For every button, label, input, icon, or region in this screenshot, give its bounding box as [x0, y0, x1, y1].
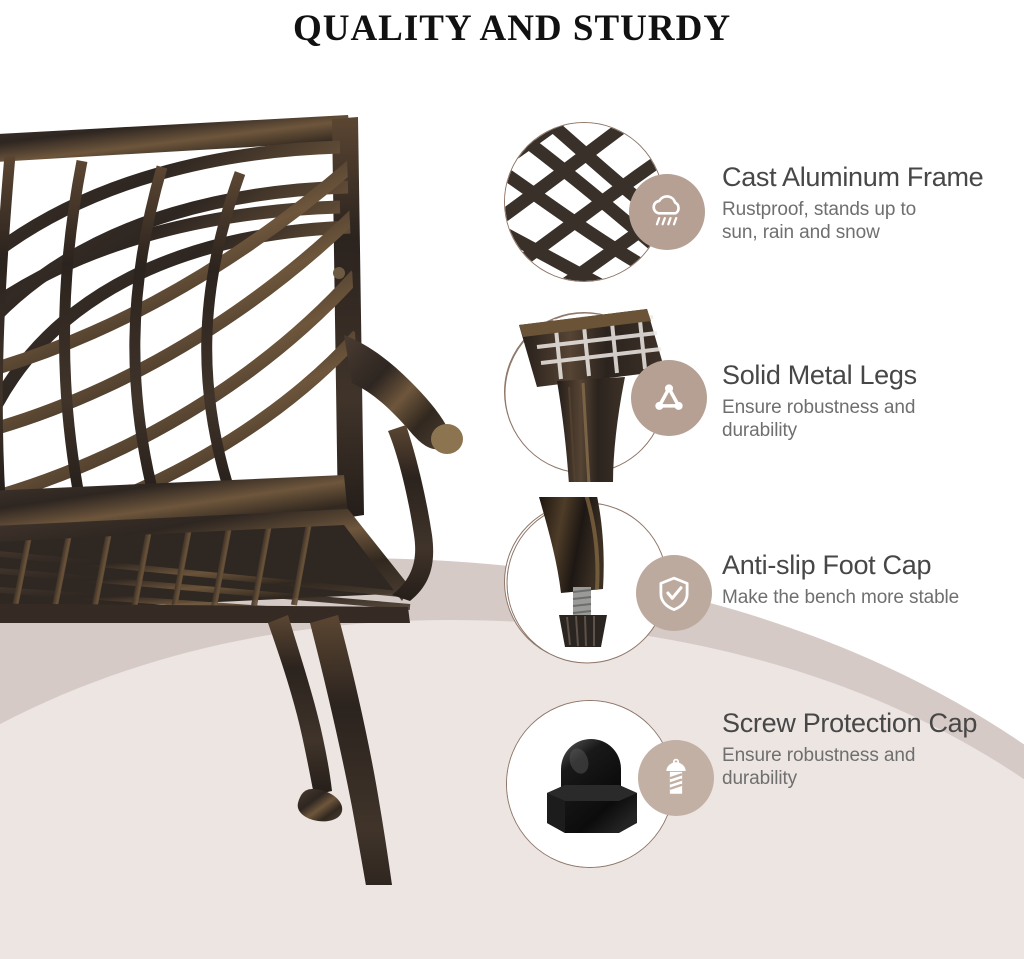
- feature-title: Cast Aluminum Frame: [722, 162, 1024, 192]
- screw-icon: [655, 757, 697, 799]
- feature-text: Cast Aluminum Frame Rustproof, stands up…: [722, 162, 1024, 244]
- feature-badge: [631, 360, 707, 436]
- feature-badge: [629, 174, 705, 250]
- feature-text: Solid Metal Legs Ensure robustness and d…: [722, 360, 1024, 442]
- feature-subtitle: Rustproof, stands up to sun, rain and sn…: [722, 198, 1024, 244]
- bench-backrest: [0, 115, 364, 555]
- feature-badge: [638, 740, 714, 816]
- feature-text: Anti-slip Foot Cap Make the bench more s…: [722, 550, 1024, 609]
- shield-check-icon: [653, 572, 695, 614]
- product-photo-bench: [0, 95, 500, 885]
- feature-row: Solid Metal Legs Ensure robustness and d…: [498, 308, 1024, 498]
- feature-row: Cast Aluminum Frame Rustproof, stands up…: [498, 118, 1024, 308]
- feature-title: Anti-slip Foot Cap: [722, 550, 1024, 580]
- feature-subtitle: Make the bench more stable: [722, 586, 1024, 609]
- bench-front-leg: [310, 615, 413, 885]
- rain-cloud-icon: [646, 191, 688, 233]
- title-bar: QUALITY AND STURDY: [0, 0, 1024, 56]
- feature-title: Screw Protection Cap: [722, 708, 1024, 738]
- feature-text: Screw Protection Cap Ensure robustness a…: [722, 708, 1024, 790]
- page-title: QUALITY AND STURDY: [293, 7, 731, 50]
- triangle-nodes-icon: [648, 377, 690, 419]
- feature-title: Solid Metal Legs: [722, 360, 1024, 390]
- bench-seat: [0, 509, 410, 623]
- feature-row: Anti-slip Foot Cap Make the bench more s…: [498, 498, 1024, 688]
- feature-subtitle: Ensure robustness and durability: [722, 396, 1024, 442]
- feature-badge: [636, 555, 712, 631]
- feature-list: Cast Aluminum Frame Rustproof, stands up…: [498, 118, 1024, 888]
- feature-subtitle: Ensure robustness and durability: [722, 744, 1024, 790]
- feature-row: Screw Protection Cap Ensure robustness a…: [498, 688, 1024, 888]
